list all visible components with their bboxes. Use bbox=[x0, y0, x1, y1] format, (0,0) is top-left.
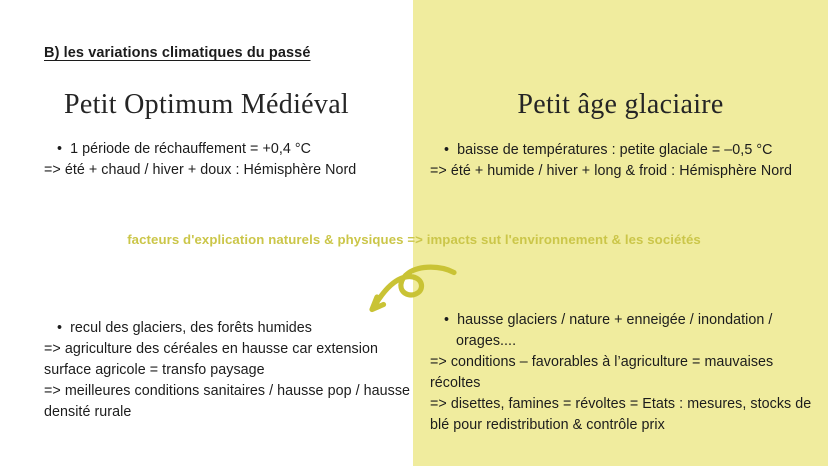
right-column-bottom-text: • hausse glaciers / nature + enneigée / … bbox=[430, 310, 814, 436]
list-item: => été + humide / hiver + long & froid :… bbox=[430, 161, 810, 182]
list-item-label: recul des glaciers, des forêts humides bbox=[70, 320, 312, 336]
list-item: • 1 période de réchauffement = +0,4 °C bbox=[44, 139, 406, 160]
list-item: => disettes, famines = révoltes = Etats … bbox=[430, 394, 814, 436]
left-column-title: Petit Optimum Médiéval bbox=[0, 89, 413, 121]
list-item-label: 1 période de réchauffement = +0,4 °C bbox=[70, 141, 311, 157]
left-column-top-text: • 1 période de réchauffement = +0,4 °C =… bbox=[44, 139, 406, 181]
list-item: => agriculture des céréales en hausse ca… bbox=[44, 339, 412, 381]
list-item: • baisse de températures : petite glacia… bbox=[430, 140, 810, 161]
middle-banner-text: facteurs d'explication naturels & physiq… bbox=[0, 232, 828, 247]
right-column-top-text: • baisse de températures : petite glacia… bbox=[430, 140, 810, 182]
section-heading: B) les variations climatiques du passé bbox=[44, 45, 311, 61]
left-column-bottom-text: • recul des glaciers, des forêts humides… bbox=[44, 318, 412, 423]
list-item: • recul des glaciers, des forêts humides bbox=[44, 318, 412, 339]
right-column-title: Petit âge glaciaire bbox=[413, 89, 828, 121]
list-item-label: hausse glaciers / nature + enneigée / in… bbox=[456, 312, 772, 349]
list-item-label: baisse de températures : petite glaciale… bbox=[457, 142, 772, 158]
list-item: => meilleures conditions sanitaires / ha… bbox=[44, 381, 412, 423]
slide-canvas: B) les variations climatiques du passé P… bbox=[0, 0, 828, 466]
list-item: => conditions – favorables à l’agricultu… bbox=[430, 352, 814, 394]
list-item: • hausse glaciers / nature + enneigée / … bbox=[430, 310, 814, 352]
list-item: => été + chaud / hiver + doux : Hémisphè… bbox=[44, 160, 406, 181]
